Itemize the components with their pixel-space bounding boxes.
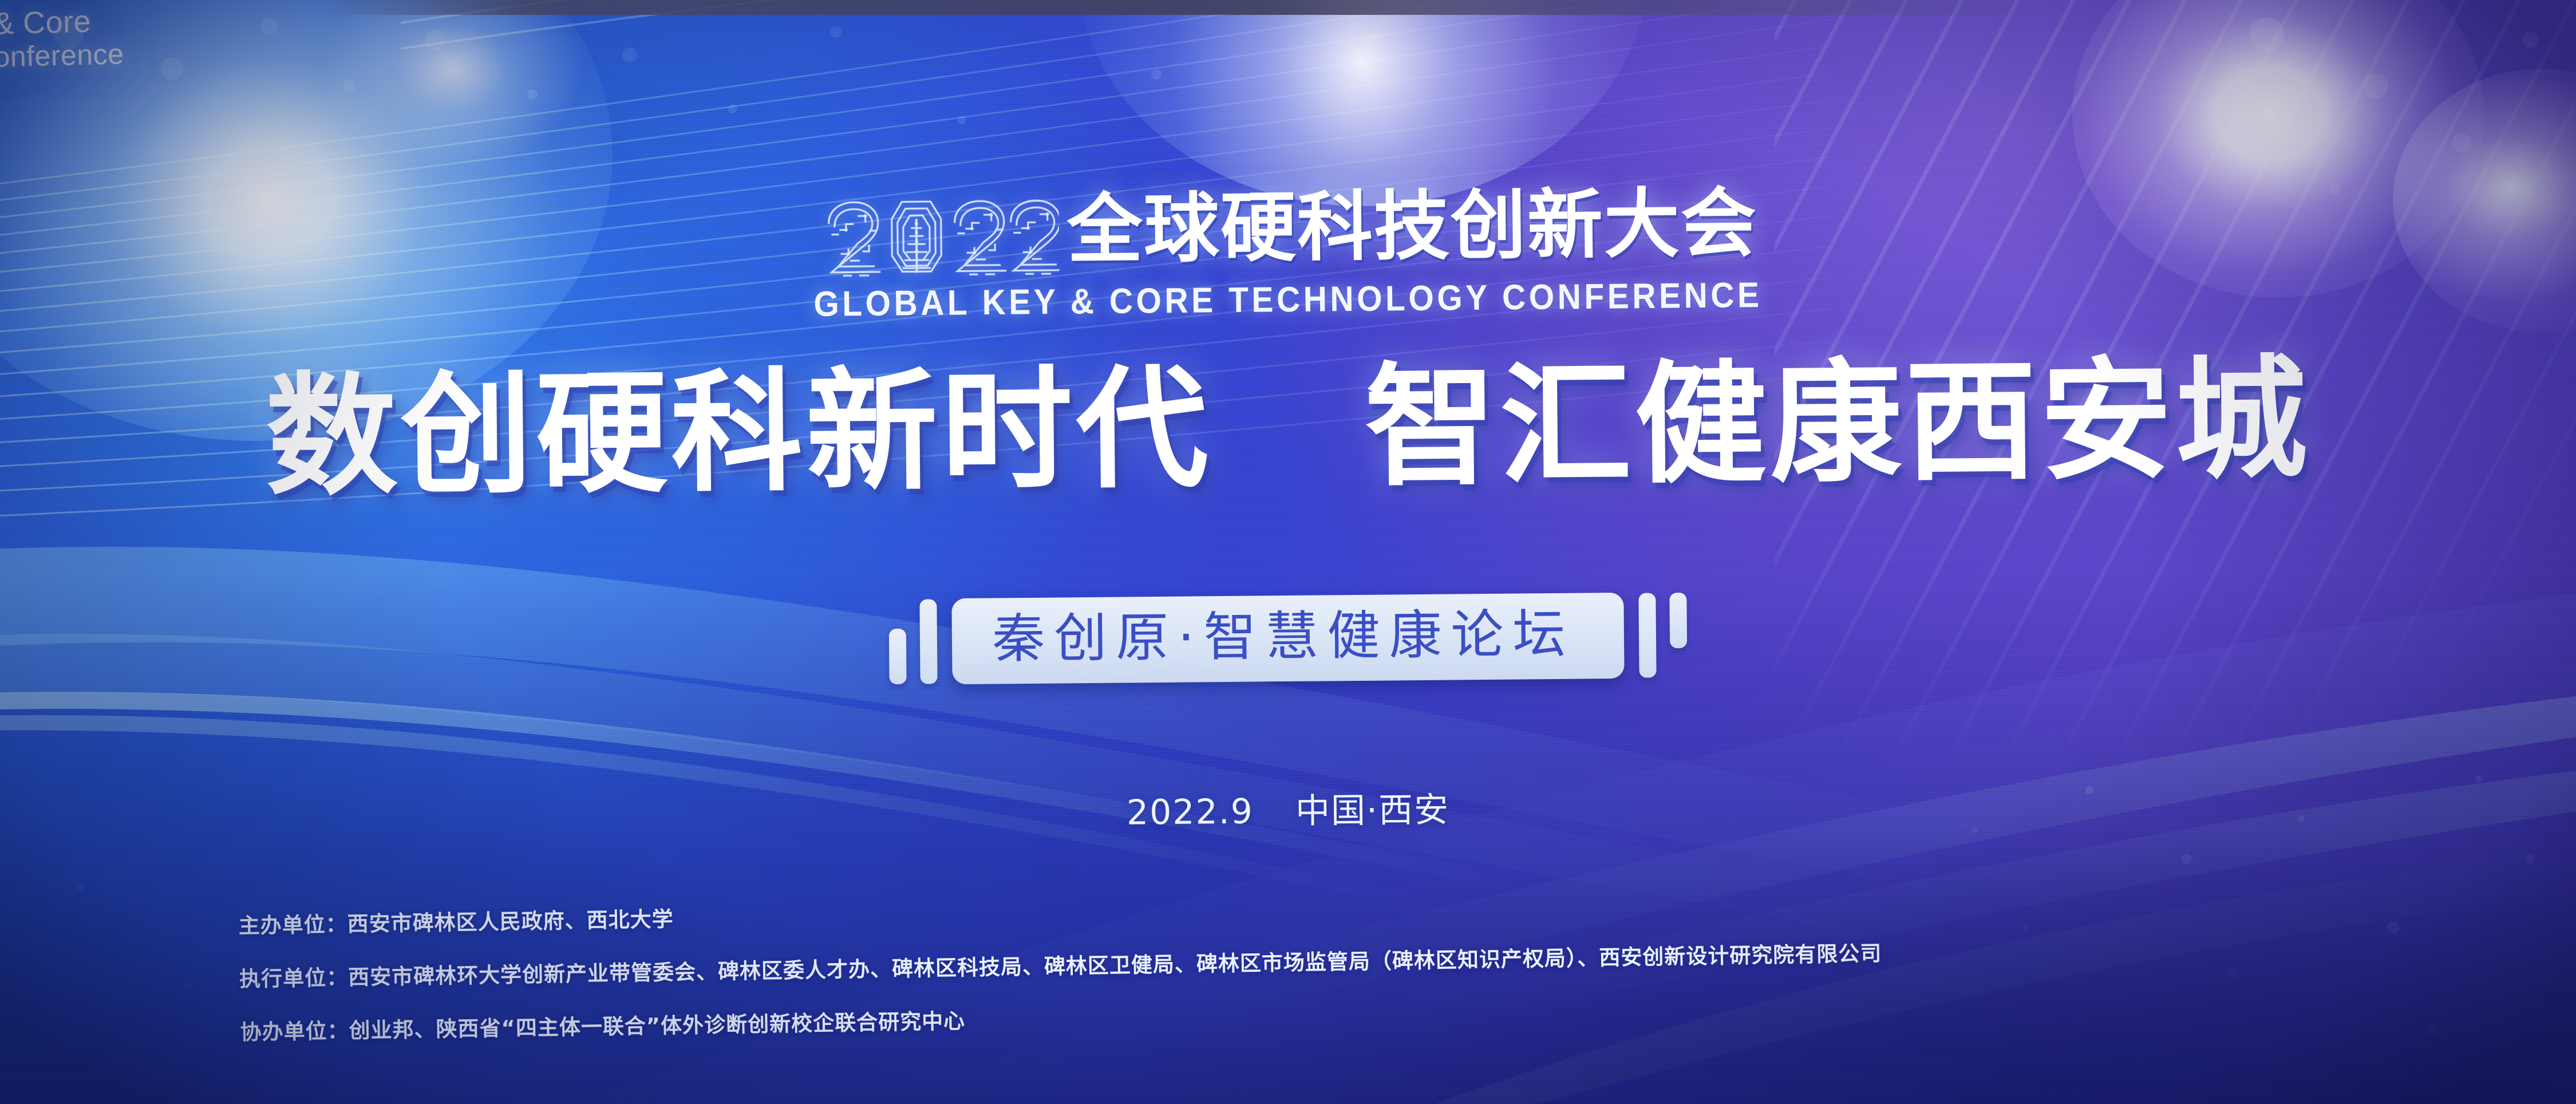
conference-stage-backdrop: obal Key & Core hnology Conference [0,0,2576,1104]
vignette-overlay [0,0,2576,1104]
